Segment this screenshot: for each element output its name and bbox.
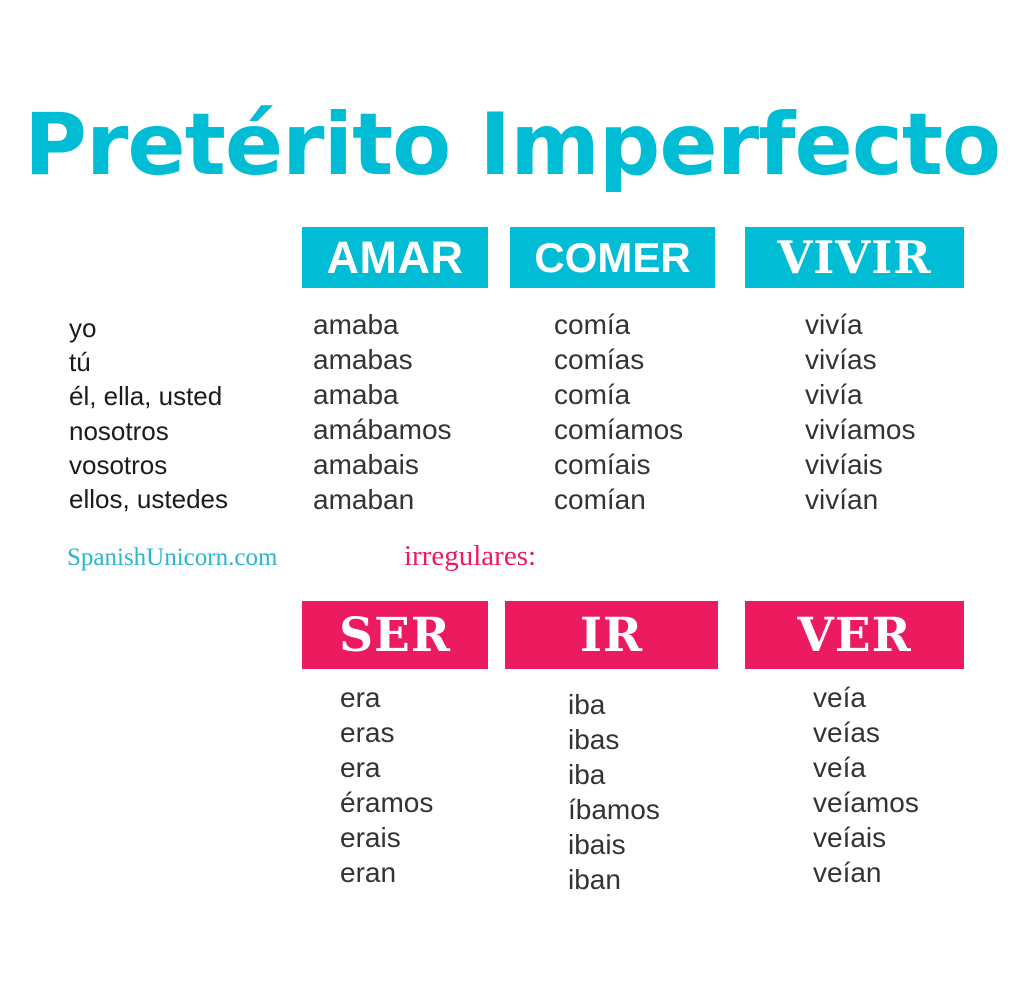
conjugation-cell: íbamos xyxy=(568,792,718,827)
conjugation-cell: erais xyxy=(340,820,488,855)
verb-column-ver: VER veía veías veía veíamos veíais veían xyxy=(745,601,964,890)
conjugation-cell: ibas xyxy=(568,722,718,757)
verb-header-ser: SER xyxy=(302,601,488,669)
verb-header-vivir: VIVIR xyxy=(745,227,964,288)
conjugation-cell: vivíais xyxy=(805,447,964,482)
pronoun-cell: vosotros xyxy=(69,448,294,482)
conjugation-cell: iba xyxy=(568,687,718,722)
verb-column-vivir: VIVIR vivía vivías vivía vivíamos vivíai… xyxy=(745,227,964,517)
conjugation-cell: comíamos xyxy=(554,412,715,447)
conjugation-cell: veía xyxy=(813,680,964,715)
conjugation-cell: amabas xyxy=(313,342,488,377)
conjugation-list-comer: comía comías comía comíamos comíais comí… xyxy=(554,307,715,517)
conjugation-cell: éramos xyxy=(340,785,488,820)
verb-header-comer: COMER xyxy=(510,227,715,288)
conjugation-cell: veían xyxy=(813,855,964,890)
conjugation-list-ir: iba ibas iba íbamos ibais iban xyxy=(568,687,718,897)
conjugation-cell: comíais xyxy=(554,447,715,482)
conjugation-cell: era xyxy=(340,750,488,785)
conjugation-cell: ibais xyxy=(568,827,718,862)
pronoun-cell: tú xyxy=(69,345,294,379)
pronoun-cell: nosotros xyxy=(69,414,294,448)
conjugation-cell: iban xyxy=(568,862,718,897)
pronoun-cell: él, ella, usted xyxy=(69,379,294,413)
conjugation-cell: era xyxy=(340,680,488,715)
conjugation-cell: veía xyxy=(813,750,964,785)
verb-header-ver: VER xyxy=(745,601,964,669)
conjugation-cell: comían xyxy=(554,482,715,517)
conjugation-cell: amaban xyxy=(313,482,488,517)
verb-header-amar: AMAR xyxy=(302,227,488,288)
conjugation-list-vivir: vivía vivías vivía vivíamos vivíais viví… xyxy=(805,307,964,517)
conjugation-cell: vivíamos xyxy=(805,412,964,447)
page-title: Pretérito Imperfecto xyxy=(0,102,1024,188)
verb-column-ir: IR iba ibas iba íbamos ibais iban xyxy=(505,601,718,897)
conjugation-cell: veíais xyxy=(813,820,964,855)
conjugation-cell: iba xyxy=(568,757,718,792)
conjugation-list-amar: amaba amabas amaba amábamos amabais amab… xyxy=(313,307,488,517)
conjugation-list-ver: veía veías veía veíamos veíais veían xyxy=(813,680,964,890)
verb-column-amar: AMAR amaba amabas amaba amábamos amabais… xyxy=(302,227,488,517)
pronoun-cell: ellos, ustedes xyxy=(69,482,294,516)
conjugation-cell: amábamos xyxy=(313,412,488,447)
irregulares-label: irregulares: xyxy=(404,542,536,571)
conjugation-cell: eran xyxy=(340,855,488,890)
conjugation-cell: amabais xyxy=(313,447,488,482)
pronoun-cell: yo xyxy=(69,311,294,345)
verb-column-comer: COMER comía comías comía comíamos comíai… xyxy=(510,227,715,517)
conjugation-cell: amaba xyxy=(313,307,488,342)
conjugation-cell: vivía xyxy=(805,307,964,342)
pronoun-column: yo tú él, ella, usted nosotros vosotros … xyxy=(69,311,294,516)
conjugation-cell: eras xyxy=(340,715,488,750)
verb-header-ir: IR xyxy=(505,601,718,669)
site-watermark: SpanishUnicorn.com xyxy=(67,545,277,570)
conjugation-cell: vivía xyxy=(805,377,964,412)
conjugation-cell: comía xyxy=(554,307,715,342)
conjugation-list-ser: era eras era éramos erais eran xyxy=(340,680,488,890)
conjugation-cell: vivías xyxy=(805,342,964,377)
conjugation-cell: comía xyxy=(554,377,715,412)
conjugation-cell: vivían xyxy=(805,482,964,517)
conjugation-cell: comías xyxy=(554,342,715,377)
conjugation-cell: veíamos xyxy=(813,785,964,820)
verb-column-ser: SER era eras era éramos erais eran xyxy=(302,601,488,890)
conjugation-cell: veías xyxy=(813,715,964,750)
conjugation-cell: amaba xyxy=(313,377,488,412)
